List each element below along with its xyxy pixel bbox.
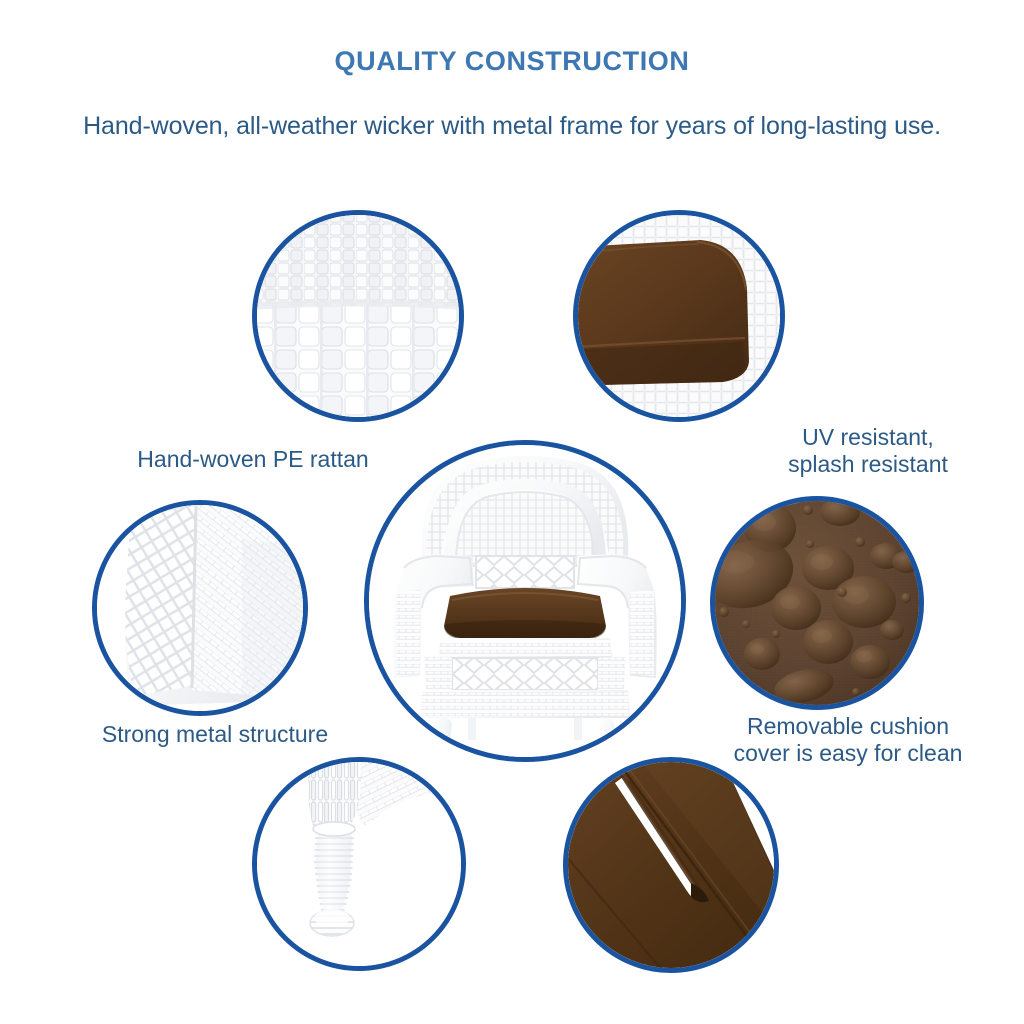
caption-removable-cushion-cover: Removable cushion cover is easy for clea… [688,713,1008,767]
wicker-chair-leg-image [252,757,466,971]
strong-metal-structure-image [92,500,308,716]
cushion-zipper-image [563,757,779,973]
caption-strong-metal-structure: Strong metal structure [45,721,385,748]
feature-circle-hand-woven-pe-rattan [252,210,464,422]
uv-splash-resistant-image [573,210,785,422]
full-chair-image [364,440,686,762]
feature-circle-removable-cushion-cover [710,496,924,710]
removable-cushion-cover-image [710,496,924,710]
feature-circle-cushion-zipper [563,757,779,973]
feature-circle-wicker-chair-leg [252,757,466,971]
hand-woven-pe-rattan-image [252,210,464,422]
feature-circle-strong-metal-structure [92,500,308,716]
page-subtitle: Hand-woven, all-weather wicker with meta… [0,112,1024,141]
page-title: QUALITY CONSTRUCTION [0,46,1024,77]
caption-uv-splash-resistant: UV resistant, splash resistant [718,424,1018,478]
feature-circle-full-chair [364,440,686,762]
feature-circle-uv-splash-resistant [573,210,785,422]
infographic-canvas: QUALITY CONSTRUCTION Hand-woven, all-wea… [0,0,1024,1024]
